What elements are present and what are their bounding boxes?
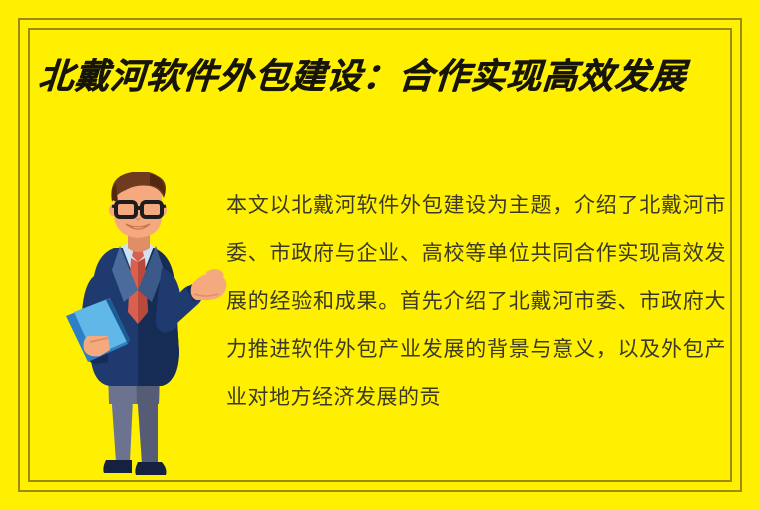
hand-right-presenting bbox=[191, 269, 227, 300]
poster-canvas: 北戴河软件外包建设：合作实现高效发展 bbox=[0, 0, 760, 510]
shoe-right bbox=[135, 462, 166, 475]
shoe-left bbox=[103, 460, 132, 473]
poster-title: 北戴河软件外包建设：合作实现高效发展 bbox=[37, 52, 740, 102]
illustration-businessman bbox=[58, 172, 228, 482]
glasses-temple-left bbox=[112, 206, 116, 207]
glasses-temple-right bbox=[162, 206, 166, 207]
poster-body-text: 本文以北戴河软件外包建设为主题，介绍了北戴河市委、市政府与企业、高校等单位共同合… bbox=[226, 181, 726, 481]
businessman-illustration-svg bbox=[58, 172, 228, 482]
